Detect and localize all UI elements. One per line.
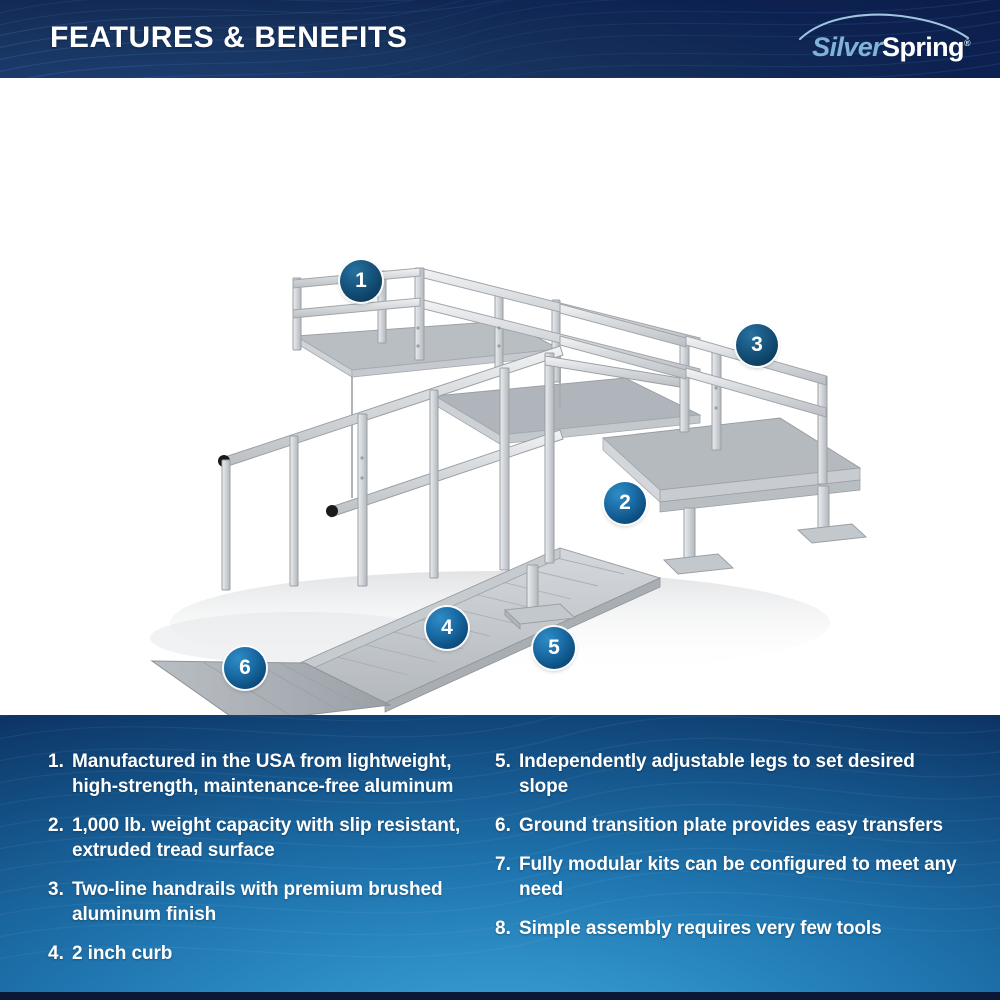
benefit-item-5: 5. Independently adjustable legs to set … xyxy=(495,749,965,799)
benefit-item-2: 2. 1,000 lb. weight capacity with slip r… xyxy=(48,813,500,863)
silver-spring-logo[interactable]: SilverSpring® xyxy=(770,12,970,64)
benefit-item-4: 4. 2 inch curb xyxy=(48,941,500,966)
callout-badge-3[interactable]: 3 xyxy=(736,324,778,366)
product-image-area: 1 2 3 4 5 6 xyxy=(0,78,1000,715)
benefit-item-6: 6. Ground transition plate provides easy… xyxy=(495,813,965,838)
benefit-item-3-text: Two-line handrails with premium brushed … xyxy=(72,877,500,927)
header-banner: FEATURES & BENEFITS SilverSpring® xyxy=(0,0,1000,78)
benefit-item-8-text: Simple assembly requires very few tools xyxy=(519,916,965,941)
callout-badge-6-number: 6 xyxy=(239,647,251,689)
benefit-item-5-number: 5. xyxy=(495,749,519,799)
features-benefits-page: FEATURES & BENEFITS SilverSpring® xyxy=(0,0,1000,1000)
callout-badge-4[interactable]: 4 xyxy=(426,607,468,649)
benefit-item-3: 3. Two-line handrails with premium brush… xyxy=(48,877,500,927)
benefit-item-2-number: 2. xyxy=(48,813,72,863)
benefit-item-6-number: 6. xyxy=(495,813,519,838)
logo-word-spring: Spring xyxy=(882,32,964,62)
callout-badge-1[interactable]: 1 xyxy=(340,260,382,302)
benefit-item-8-number: 8. xyxy=(495,916,519,941)
page-title: FEATURES & BENEFITS xyxy=(50,21,408,55)
benefit-item-6-text: Ground transition plate provides easy tr… xyxy=(519,813,965,838)
callout-badge-2[interactable]: 2 xyxy=(604,482,646,524)
callout-badge-4-number: 4 xyxy=(441,607,453,649)
callout-badge-5[interactable]: 5 xyxy=(533,627,575,669)
benefits-columns: 1. Manufactured in the USA from lightwei… xyxy=(0,715,1000,1000)
bottom-accent-bar xyxy=(0,992,1000,1000)
callout-badge-2-number: 2 xyxy=(619,482,631,524)
benefit-item-1: 1. Manufactured in the USA from lightwei… xyxy=(48,749,500,799)
benefit-item-7-number: 7. xyxy=(495,852,519,902)
callout-badge-1-number: 1 xyxy=(355,260,367,302)
callout-badge-5-number: 5 xyxy=(548,627,560,669)
benefit-item-1-number: 1. xyxy=(48,749,72,799)
logo-wordmark: SilverSpring® xyxy=(770,28,970,62)
benefit-item-8: 8. Simple assembly requires very few too… xyxy=(495,916,965,941)
logo-registered-mark: ® xyxy=(964,38,970,48)
benefit-item-3-number: 3. xyxy=(48,877,72,927)
benefits-right-column: 5. Independently adjustable legs to set … xyxy=(495,749,965,955)
callout-badge-6[interactable]: 6 xyxy=(224,647,266,689)
ramp-illustration xyxy=(0,78,1000,715)
benefit-item-4-number: 4. xyxy=(48,941,72,966)
benefit-item-4-text: 2 inch curb xyxy=(72,941,500,966)
callout-badge-3-number: 3 xyxy=(751,324,763,366)
benefits-panel: 1. Manufactured in the USA from lightwei… xyxy=(0,715,1000,1000)
benefit-item-1-text: Manufactured in the USA from lightweight… xyxy=(72,749,500,799)
benefit-item-5-text: Independently adjustable legs to set des… xyxy=(519,749,965,799)
benefit-item-7: 7. Fully modular kits can be configured … xyxy=(495,852,965,902)
benefits-left-column: 1. Manufactured in the USA from lightwei… xyxy=(48,749,500,980)
benefit-item-7-text: Fully modular kits can be configured to … xyxy=(519,852,965,902)
benefit-item-2-text: 1,000 lb. weight capacity with slip resi… xyxy=(72,813,500,863)
logo-word-silver: Silver xyxy=(812,32,882,62)
